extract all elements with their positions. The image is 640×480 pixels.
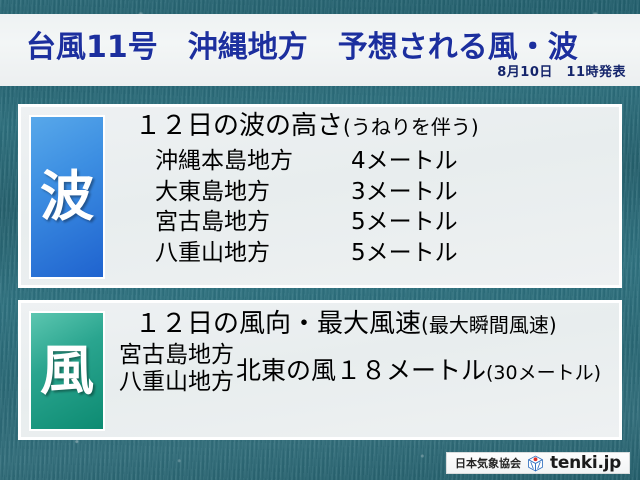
wave-badge: 波 (29, 115, 105, 279)
page-title: 台風11号 沖縄地方 予想される風・波 (26, 22, 578, 66)
table-row: 沖縄本島地方 4メートル (155, 146, 619, 177)
wave-region: 宮古島地方 (155, 207, 351, 238)
wind-heading-note: (最大瞬間風速) (421, 313, 557, 337)
title-band: 台風11号 沖縄地方 予想される風・波 8月10日 11時発表 (0, 14, 640, 86)
wind-value-main: 北東の風１８メートル (236, 356, 486, 385)
wave-panel: 波 １２日の波の高さ(うねりを伴う) 沖縄本島地方 4メートル 大東島地方 3メ… (18, 104, 622, 288)
wave-heading-note: (うねりを伴う) (343, 115, 479, 139)
wind-heading: １２日の風向・最大風速(最大瞬間風速) (117, 311, 619, 338)
cube-logo-icon (527, 455, 544, 472)
wave-rows: 沖縄本島地方 4メートル 大東島地方 3メートル 宮古島地方 5メートル 八重山… (117, 146, 619, 268)
wind-badge-label: 風 (40, 344, 94, 398)
footer-brand: tenki.jp (550, 453, 621, 473)
issued-timestamp: 8月10日 11時発表 (497, 61, 626, 80)
wave-content: １２日の波の高さ(うねりを伴う) 沖縄本島地方 4メートル 大東島地方 3メート… (117, 113, 619, 269)
wind-value: 北東の風１８メートル(30メートル) (236, 351, 601, 387)
wind-regions: 宮古島地方 八重山地方 (119, 342, 234, 396)
table-row: 宮古島地方 5メートル (155, 207, 619, 238)
wind-region: 八重山地方 (119, 369, 234, 396)
footer-organization: 日本気象協会 (455, 455, 521, 471)
wave-region: 沖縄本島地方 (155, 146, 351, 177)
wave-badge-label: 波 (40, 170, 94, 224)
wave-region: 大東島地方 (155, 177, 351, 208)
footer-logo: 日本気象協会 tenki.jp (446, 452, 630, 474)
table-row: 八重山地方 5メートル (155, 238, 619, 269)
wave-region: 八重山地方 (155, 238, 351, 269)
wave-value: 5メートル (351, 238, 458, 269)
wind-heading-main: １２日の風向・最大風速 (135, 309, 421, 339)
wave-value: 5メートル (351, 207, 458, 238)
wave-heading-main: １２日の波の高さ (135, 111, 343, 141)
wind-region: 宮古島地方 (119, 342, 234, 369)
weather-infographic: 台風11号 沖縄地方 予想される風・波 8月10日 11時発表 波 １２日の波の… (0, 0, 640, 480)
wind-content: １２日の風向・最大風速(最大瞬間風速) 宮古島地方 八重山地方 北東の風１８メー… (117, 311, 619, 397)
wave-heading: １２日の波の高さ(うねりを伴う) (117, 113, 619, 140)
wind-row: 宮古島地方 八重山地方 北東の風１８メートル(30メートル) (117, 342, 619, 396)
wave-value: 3メートル (351, 177, 458, 208)
wind-value-gust: (30メートル) (486, 362, 601, 384)
wave-value: 4メートル (351, 146, 458, 177)
wind-badge: 風 (29, 311, 105, 431)
table-row: 大東島地方 3メートル (155, 177, 619, 208)
wind-panel: 風 １２日の風向・最大風速(最大瞬間風速) 宮古島地方 八重山地方 北東の風１８… (18, 300, 622, 440)
